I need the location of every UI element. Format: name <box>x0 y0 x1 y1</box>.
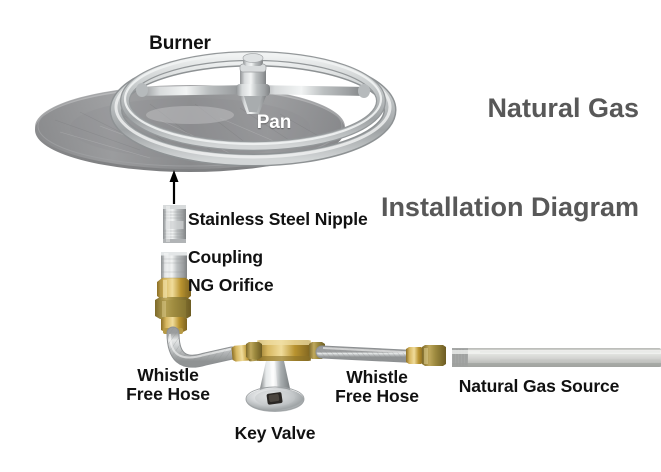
key-valve-graphic <box>246 340 325 412</box>
title-line-1: Natural Gas <box>381 92 639 125</box>
whistle-free-hose-right-graphic <box>322 345 446 366</box>
label-ng-orifice: NG Orifice <box>188 276 274 295</box>
label-key-valve: Key Valve <box>235 424 316 443</box>
stainless-steel-nipple-graphic <box>163 205 186 243</box>
title-line-2: Installation Diagram <box>381 191 639 224</box>
diagram-canvas: Natural Gas Installation Diagram Burner … <box>0 0 661 472</box>
label-coupling: Coupling <box>188 248 263 267</box>
label-pan: Pan <box>257 113 292 133</box>
flow-arrow-icon <box>170 170 179 204</box>
natural-gas-source-graphic <box>452 348 661 367</box>
label-natural-gas-source: Natural Gas Source <box>459 377 620 396</box>
label-whistle-free-hose-right: Whistle Free Hose <box>335 368 419 405</box>
page-title: Natural Gas Installation Diagram <box>381 26 639 290</box>
ng-orifice-graphic <box>155 278 191 334</box>
label-burner: Burner <box>149 34 211 54</box>
coupling-graphic <box>161 252 187 282</box>
label-stainless-steel-nipple: Stainless Steel Nipple <box>188 210 368 229</box>
label-whistle-free-hose-left: Whistle Free Hose <box>126 366 210 403</box>
